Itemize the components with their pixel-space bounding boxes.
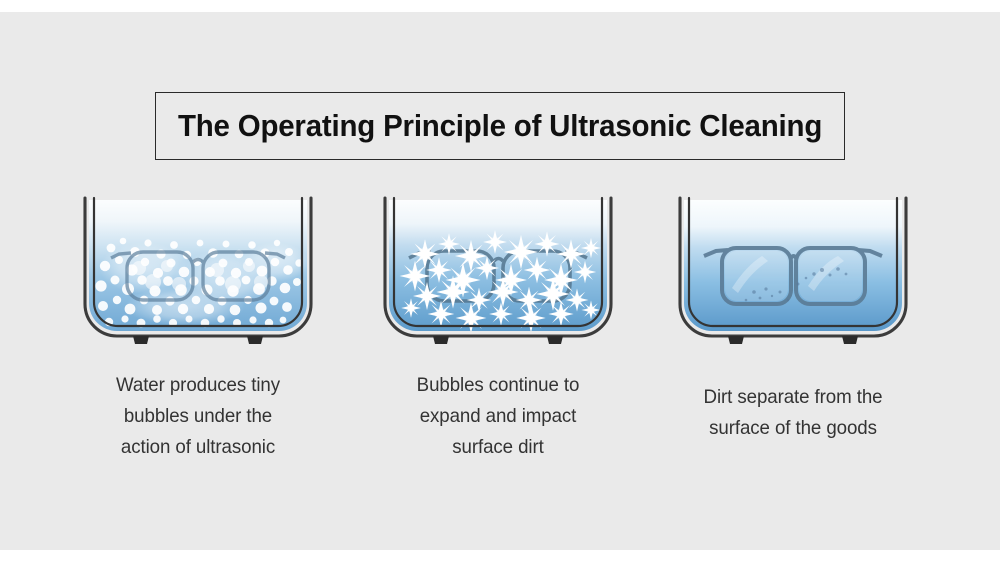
caption-line: Dirt separate from the	[649, 382, 937, 413]
step-3-caption: Dirt separate from the surface of the go…	[649, 382, 937, 444]
caption-line: expand and impact	[354, 401, 642, 432]
caption-line: surface dirt	[354, 432, 642, 463]
caption-line: surface of the goods	[649, 413, 937, 444]
step-1: Water produces tiny bubbles under the ac…	[48, 196, 348, 496]
caption-line: Water produces tiny	[54, 370, 342, 401]
caption-line: bubbles under the	[54, 401, 342, 432]
infographic-root: The Operating Principle of Ultrasonic Cl…	[0, 0, 1000, 570]
page-title-box: The Operating Principle of Ultrasonic Cl…	[155, 92, 845, 160]
tank-illustration-3	[670, 196, 916, 348]
caption-line: Bubbles continue to	[354, 370, 642, 401]
step-2-caption: Bubbles continue to expand and impact su…	[354, 370, 642, 463]
step-1-caption: Water produces tiny bubbles under the ac…	[54, 370, 342, 463]
ultrasonic-tank-tiny-bubbles-icon	[75, 196, 321, 348]
step-3: Dirt separate from the surface of the go…	[643, 196, 943, 496]
page-title: The Operating Principle of Ultrasonic Cl…	[178, 108, 822, 144]
ultrasonic-tank-expanding-bubbles-icon	[375, 196, 621, 348]
ultrasonic-tank-clean-glasses-icon	[670, 196, 916, 348]
steps-row: Water produces tiny bubbles under the ac…	[0, 196, 1000, 496]
caption-line: action of ultrasonic	[54, 432, 342, 463]
step-2: Bubbles continue to expand and impact su…	[348, 196, 648, 496]
tank-illustration-2	[375, 196, 621, 348]
tank-illustration-1	[75, 196, 321, 348]
